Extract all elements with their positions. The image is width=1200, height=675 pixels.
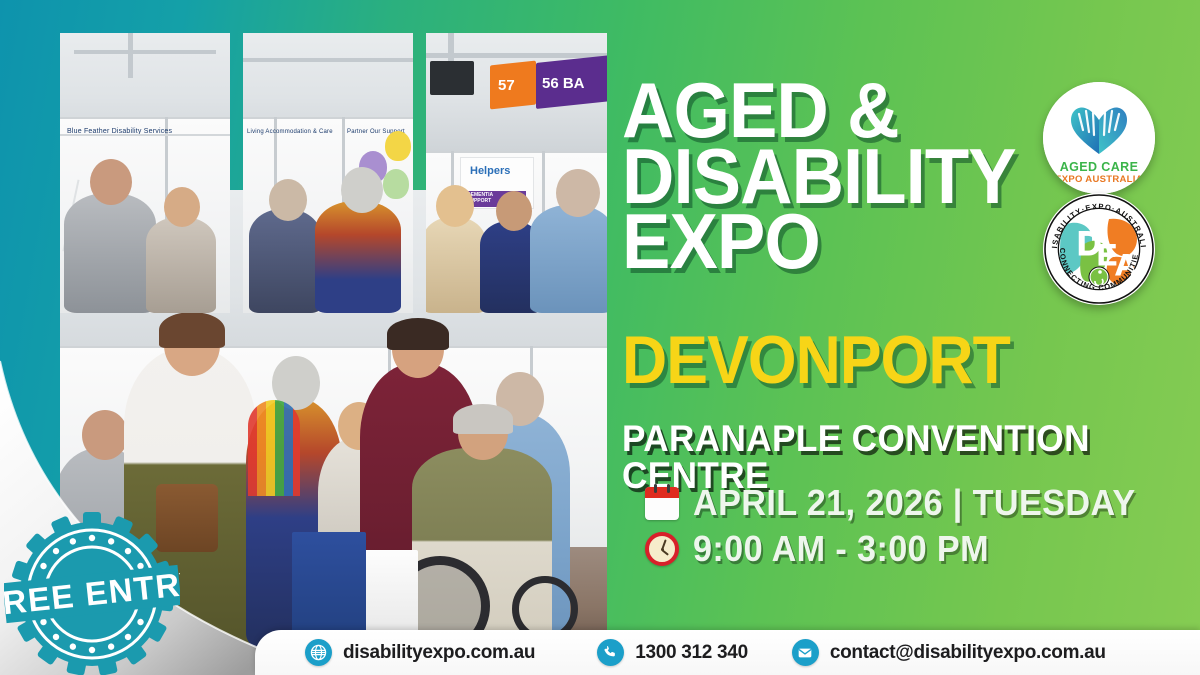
- aged-care-expo-australia-logo: AGED CARE EXPO AUSTRALIA: [1043, 82, 1155, 194]
- city-name: DEVONPORT: [622, 330, 1010, 391]
- page-title: AGED & DISABILITY EXPO: [622, 78, 1022, 275]
- free-entry-badge: FREE ENTRY: [4, 512, 180, 675]
- contact-footer-bar: disabilityexpo.com.au 1300 312 340 conta…: [255, 630, 1200, 675]
- globe-icon: [305, 639, 332, 666]
- footer-phone[interactable]: 1300 312 340: [597, 639, 748, 666]
- disability-expo-australia-logo: D E A DISABILITY·EXPO·AUSTRALIA CONNECTI…: [1043, 193, 1155, 305]
- event-date-text: APRIL 21, 2026 | TUESDAY: [693, 482, 1136, 524]
- photo-panel-1: Blue Feather Disability Services: [60, 33, 230, 313]
- footer-email-text: contact@disabilityexpo.com.au: [830, 642, 1106, 664]
- footer-website[interactable]: disabilityexpo.com.au: [305, 639, 535, 666]
- photo-panel-2: Living Accommodation & Care Partner Our …: [243, 33, 413, 313]
- footer-email[interactable]: contact@disabilityexpo.com.au: [792, 639, 1106, 666]
- event-poster: Blue Feather Disability Services Living …: [0, 0, 1200, 675]
- phone-icon: [597, 639, 624, 666]
- event-time-text: 9:00 AM - 3:00 PM: [693, 528, 989, 570]
- calendar-icon: [645, 487, 679, 520]
- event-time-row: 9:00 AM - 3:00 PM: [645, 528, 1005, 570]
- footer-website-text: disabilityexpo.com.au: [343, 642, 535, 664]
- mail-icon: [792, 639, 819, 666]
- footer-phone-text: 1300 312 340: [635, 642, 748, 664]
- svg-text:AGED CARE: AGED CARE: [1060, 160, 1139, 174]
- photo-panel-3: 57 56 BA Helpers DEMENTIASUPPORT: [426, 33, 607, 313]
- clock-icon: [645, 532, 679, 566]
- event-date-row: APRIL 21, 2026 | TUESDAY: [645, 482, 1159, 524]
- svg-text:EXPO AUSTRALIA: EXPO AUSTRALIA: [1055, 174, 1143, 185]
